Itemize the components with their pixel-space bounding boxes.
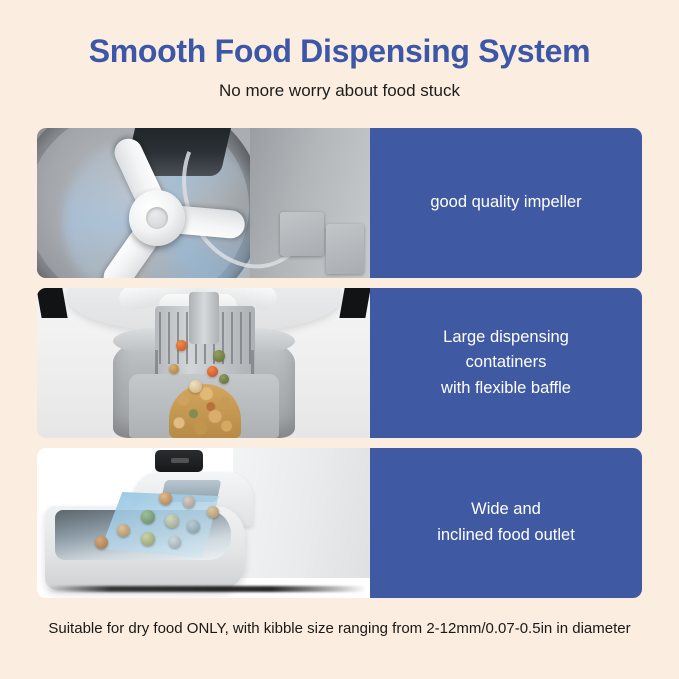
photo-corner-shadow — [339, 288, 370, 318]
falling-kibble — [189, 380, 202, 393]
kibble-piece — [183, 496, 195, 508]
feature-label-line-1: Wide and — [437, 497, 575, 523]
falling-kibble — [169, 364, 179, 374]
feature-row-outlet: Wide and inclined food outlet — [37, 448, 642, 598]
falling-kibble — [213, 350, 225, 362]
kibble-piece — [159, 492, 172, 505]
feature-rows: good quality impeller — [37, 128, 642, 598]
header: Smooth Food Dispensing System No more wo… — [0, 0, 679, 102]
kibble-piece — [95, 536, 108, 549]
falling-kibble — [219, 374, 229, 384]
housing-tab — [326, 224, 364, 274]
kibble-piece — [141, 532, 155, 546]
feature-label-line-2: contatiners — [441, 350, 571, 376]
feature-label-containers: Large dispensing contatiners with flexib… — [427, 325, 585, 402]
dispensing-containers-photo — [37, 288, 370, 438]
feature-panel-outlet: Wide and inclined food outlet — [370, 448, 642, 598]
kibble-piece — [169, 536, 181, 548]
feature-label-line-3: with flexible baffle — [441, 376, 571, 402]
kibble-piece — [141, 510, 155, 524]
food-outlet-photo — [37, 448, 370, 598]
page-title: Smooth Food Dispensing System — [0, 34, 679, 69]
falling-kibble — [207, 366, 218, 377]
photo-corner-shadow — [37, 288, 68, 318]
feature-label-outlet: Wide and inclined food outlet — [423, 497, 589, 548]
feeder-base-shadow — [47, 586, 367, 592]
kibble-piece — [207, 506, 219, 518]
falling-kibble — [176, 340, 187, 351]
impeller-hub — [129, 190, 185, 246]
feature-panel-impeller: good quality impeller — [370, 128, 642, 278]
housing-tab — [280, 212, 324, 256]
feature-label-impeller: good quality impeller — [416, 190, 595, 216]
feeder-body — [233, 448, 370, 578]
kibble-piece — [165, 514, 179, 528]
feature-row-impeller: good quality impeller — [37, 128, 642, 278]
impeller-photo — [37, 128, 370, 278]
kibble-piece — [187, 520, 200, 533]
page-subtitle: No more worry about food stuck — [0, 69, 679, 101]
kibble-piece — [117, 524, 130, 537]
feature-label-line-1: Large dispensing — [441, 325, 571, 351]
drive-shaft — [189, 292, 219, 344]
feature-panel-containers: Large dispensing contatiners with flexib… — [370, 288, 642, 438]
feeder-display-screen — [155, 450, 203, 472]
feature-row-containers: Large dispensing contatiners with flexib… — [37, 288, 642, 438]
footer-caption: Suitable for dry food ONLY, with kibble … — [0, 620, 679, 637]
feature-label-line-2: inclined food outlet — [437, 523, 575, 549]
